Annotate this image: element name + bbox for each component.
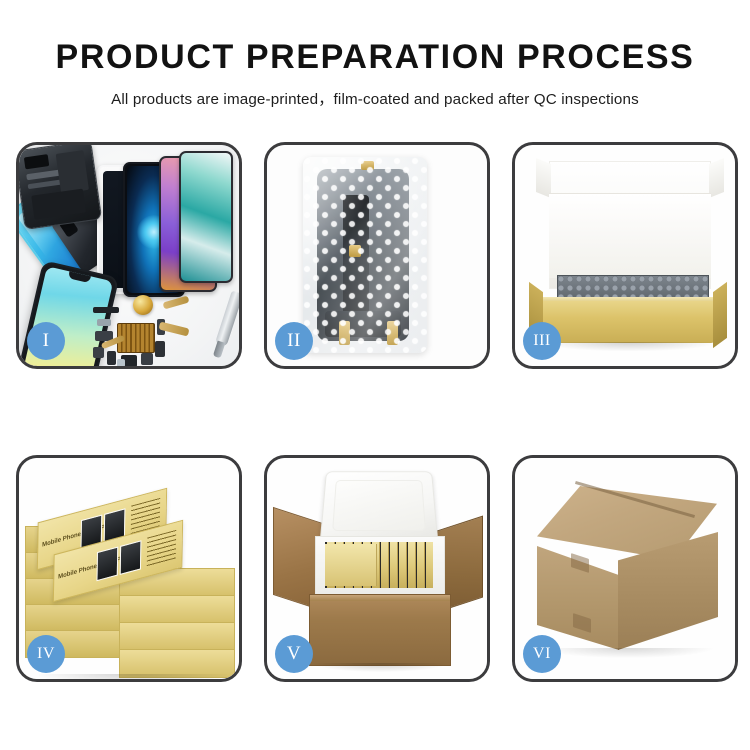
yellow-box-top-face bbox=[325, 544, 377, 586]
page-subtitle: All products are image-printed，film-coat… bbox=[0, 76, 750, 109]
process-step-2[interactable]: II bbox=[264, 142, 490, 369]
process-step-1[interactable]: I bbox=[16, 142, 242, 369]
process-step-5[interactable]: V bbox=[264, 455, 490, 682]
drop-shadow bbox=[313, 663, 447, 672]
phone-teal-gradient bbox=[179, 151, 233, 283]
drop-shadow bbox=[543, 648, 713, 658]
step-badge-6: VI bbox=[523, 635, 561, 673]
bubble-wrap-bag bbox=[303, 157, 427, 353]
camera-module-icon bbox=[133, 295, 153, 315]
page-title: PRODUCT PREPARATION PROCESS bbox=[0, 0, 750, 76]
process-step-grid: I II bbox=[16, 142, 738, 682]
process-step-4[interactable]: Mobile Phone Spare Parts Mobile Phone Sp… bbox=[16, 455, 242, 682]
spare-parts-cluster bbox=[93, 295, 213, 366]
step-badge-4: IV bbox=[27, 635, 65, 673]
box-lid-face bbox=[549, 193, 711, 278]
plastic-sheen bbox=[303, 157, 427, 353]
step-badge-2: II bbox=[275, 322, 313, 360]
carton-body bbox=[309, 594, 451, 666]
box-spec-lines-2 bbox=[147, 530, 176, 567]
product-preparation-infographic: PRODUCT PREPARATION PROCESS All products… bbox=[0, 0, 750, 750]
process-step-6[interactable]: VI bbox=[512, 455, 738, 682]
drop-shadow bbox=[39, 674, 227, 679]
process-step-3[interactable]: III bbox=[512, 142, 738, 369]
drop-shadow bbox=[545, 342, 713, 351]
box-window-2b bbox=[120, 540, 142, 575]
phone-internal-frame bbox=[19, 145, 102, 230]
step-badge-1: I bbox=[27, 322, 65, 360]
step-badge-5: V bbox=[275, 635, 313, 673]
header: PRODUCT PREPARATION PROCESS All products… bbox=[0, 0, 750, 109]
box-window-2a bbox=[96, 546, 118, 581]
box-base bbox=[541, 301, 715, 343]
step-badge-3: III bbox=[523, 322, 561, 360]
foam-lid bbox=[320, 471, 439, 542]
repair-tweezers-icon bbox=[215, 291, 239, 348]
